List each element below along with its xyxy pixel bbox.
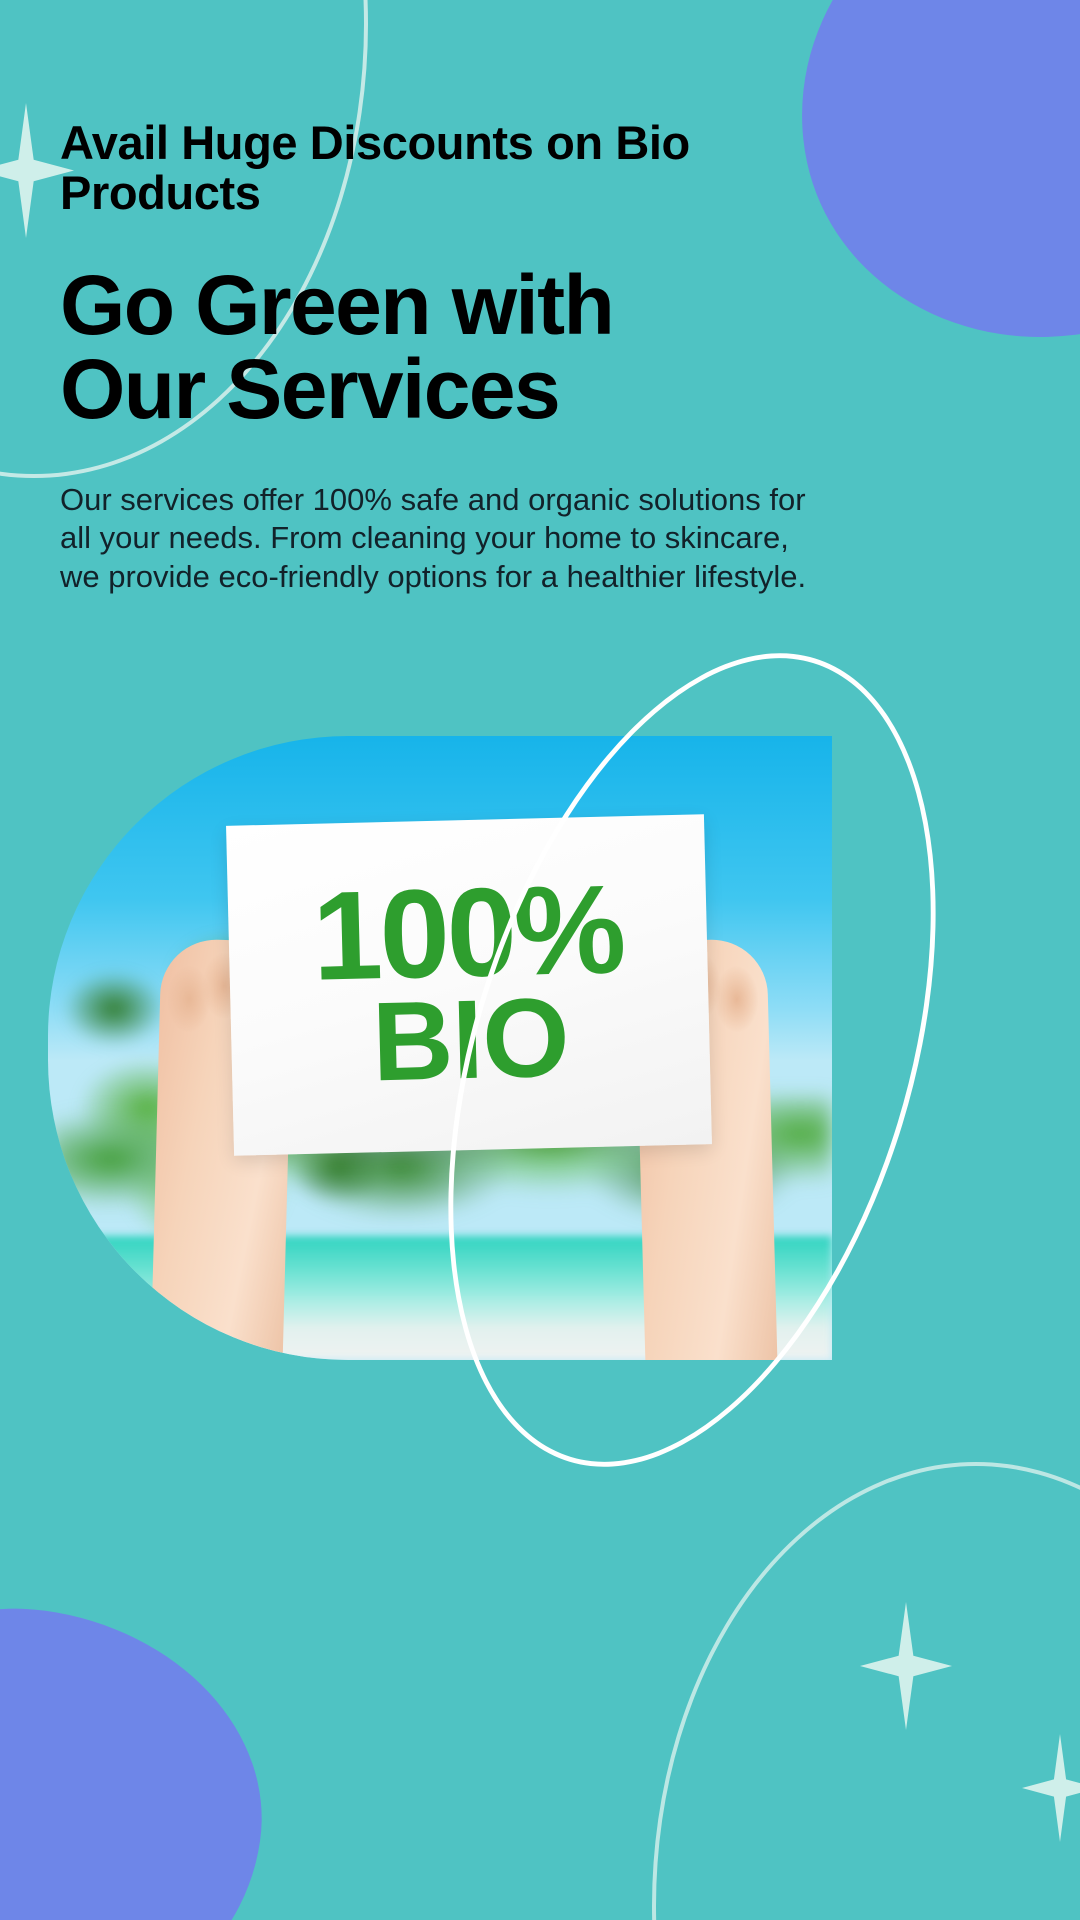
blue-blob-bottom-left-icon bbox=[0, 1579, 288, 1920]
body-paragraph: Our services offer 100% safe and organic… bbox=[60, 431, 820, 597]
sparkle-star-icon bbox=[860, 1602, 952, 1730]
arc-bottom-right-icon bbox=[652, 1462, 1080, 1920]
eyebrow-text: Avail Huge Discounts on Bio Products bbox=[60, 0, 720, 219]
sparkle-star-icon bbox=[1022, 1734, 1080, 1842]
text-content: Avail Huge Discounts on Bio Products Go … bbox=[0, 0, 1080, 597]
page-title: Go Green with Our Services bbox=[60, 219, 760, 431]
promo-poster: Avail Huge Discounts on Bio Products Go … bbox=[0, 0, 1080, 1920]
